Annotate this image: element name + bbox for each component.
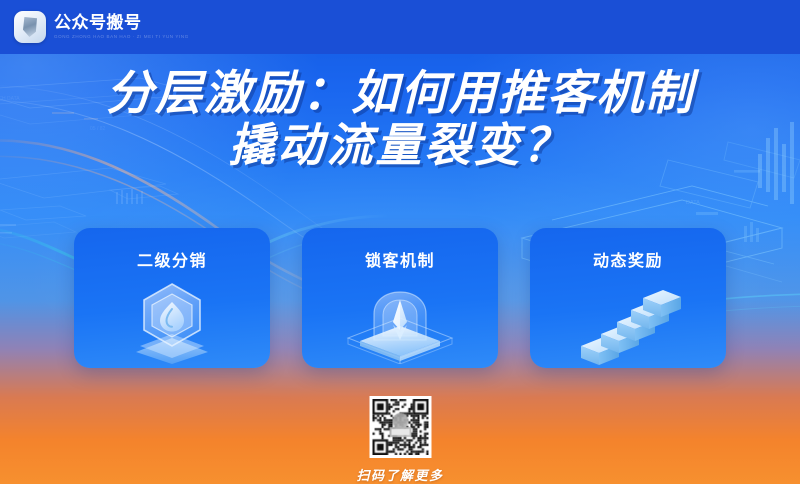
top-bar: 公众号搬号 GONG ZHONG HAO BAN HAO · ZI MEI TI… [0, 0, 800, 54]
feature-card-row: 二级分销 [0, 228, 800, 368]
brand-name: 公众号搬号 [54, 14, 189, 32]
feature-card-distribution[interactable]: 二级分销 [74, 228, 270, 368]
headline-line-2: 撬动流量裂变？ [0, 119, 800, 172]
brand-logo[interactable]: 公众号搬号 GONG ZHONG HAO BAN HAO · ZI MEI TI… [14, 8, 189, 46]
poster-canvas: TECH DATA 05 / 82 [0, 0, 800, 484]
card-title: 锁客机制 [302, 247, 498, 271]
hexagon-shield-icon [126, 278, 218, 364]
lock-platform-icon [342, 278, 458, 364]
headline-line-1: 分层激励：如何用推客机制 [0, 66, 800, 119]
qr-code-icon[interactable] [369, 396, 431, 458]
qr-caption: 扫码了解更多 [356, 465, 443, 484]
card-artwork [530, 276, 726, 366]
card-artwork [74, 276, 270, 366]
stairs-steps-icon [573, 276, 683, 366]
card-title: 二级分销 [74, 247, 270, 271]
app-logo-icon [14, 11, 46, 43]
card-artwork [302, 276, 498, 366]
qr-block: 扫码了解更多 [356, 396, 443, 484]
headline-block: 分层激励：如何用推客机制 撬动流量裂变？ [0, 66, 800, 172]
brand-subtitle: GONG ZHONG HAO BAN HAO · ZI MEI TI YUN Y… [54, 33, 189, 40]
feature-card-lock[interactable]: 锁客机制 [302, 228, 498, 368]
card-title: 动态奖励 [530, 247, 726, 271]
brand-text-group: 公众号搬号 GONG ZHONG HAO BAN HAO · ZI MEI TI… [54, 14, 189, 40]
feature-card-reward[interactable]: 动态奖励 [530, 228, 726, 368]
svg-text:DATA: DATA [686, 200, 700, 206]
